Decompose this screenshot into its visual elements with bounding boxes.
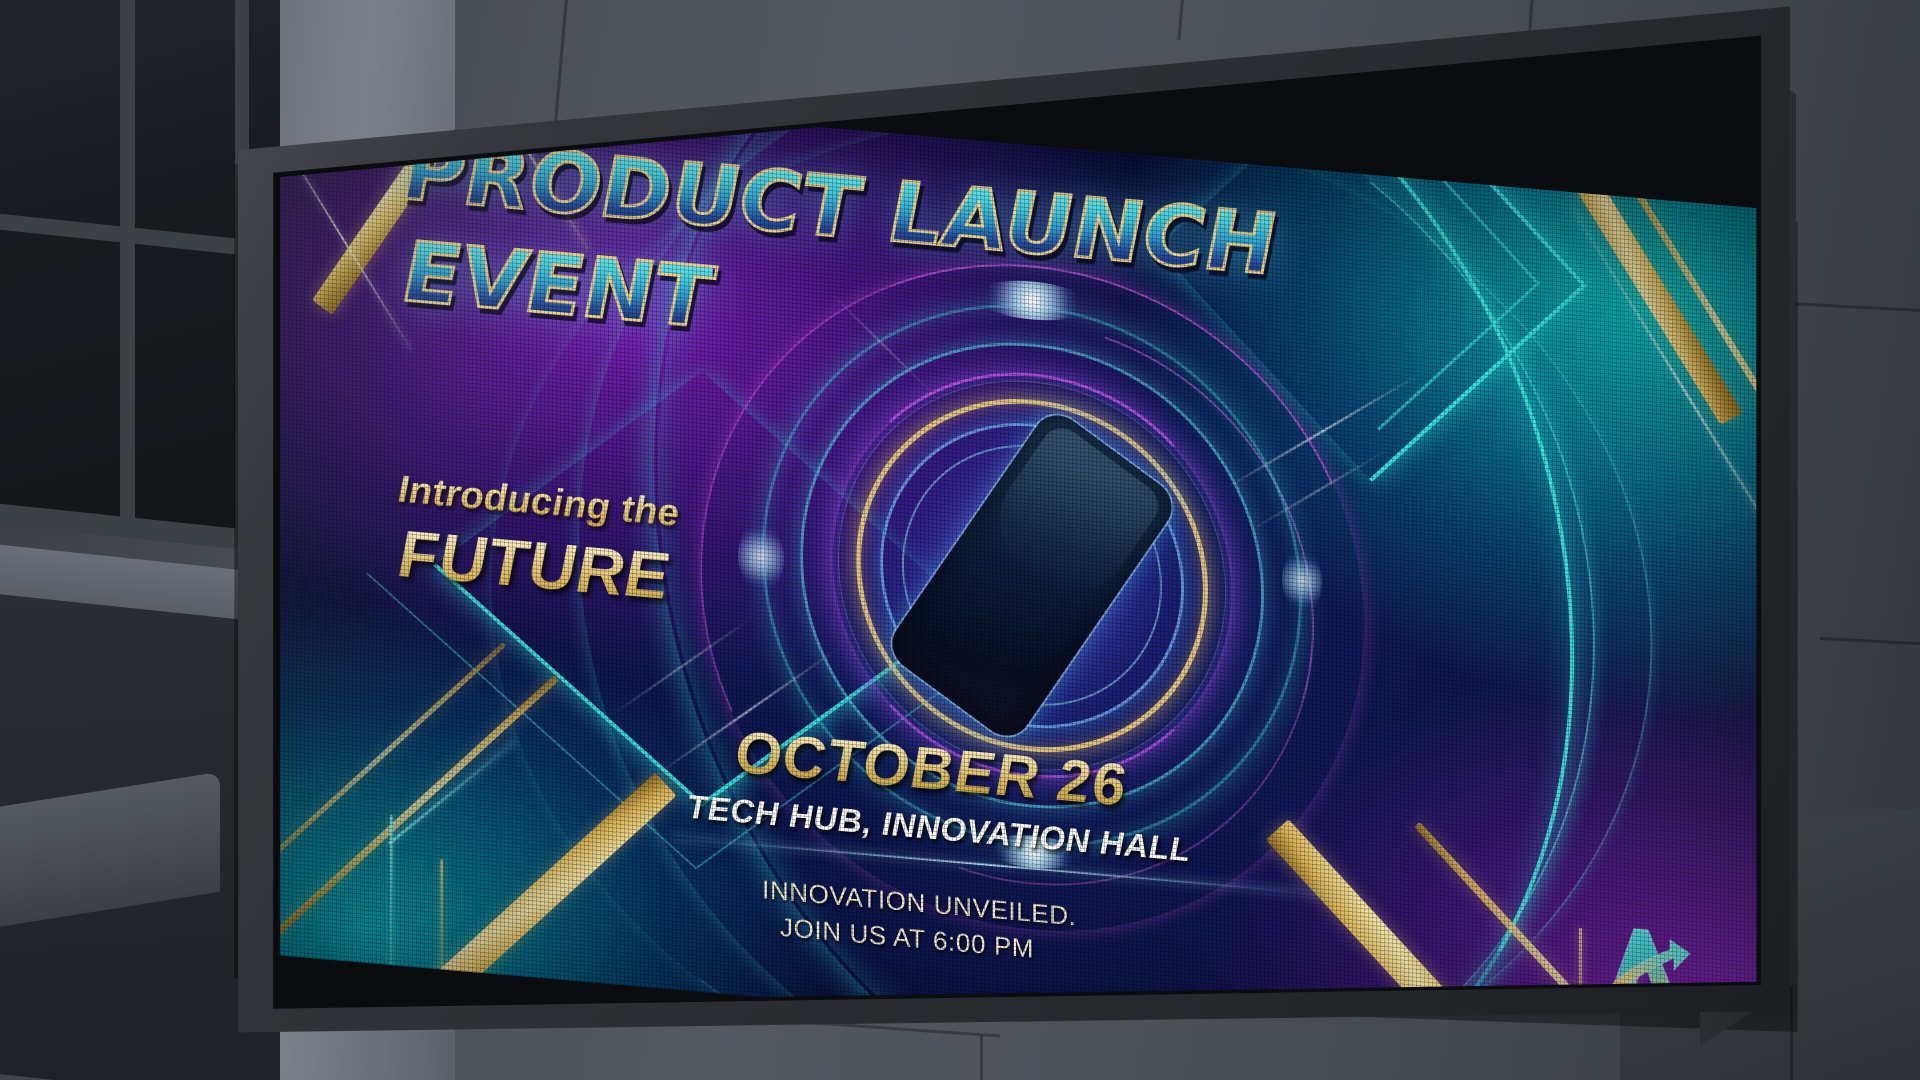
headline-line-2: EVENT [404, 231, 713, 339]
billboard-unit: PRODUCT LAUNCH EVENT Introducing the FUT… [0, 0, 1920, 1080]
billboard-scene: PRODUCT LAUNCH EVENT Introducing the FUT… [0, 0, 1920, 1080]
billboard-screen: PRODUCT LAUNCH EVENT Introducing the FUT… [206, 0, 1806, 1080]
light-streak [610, 616, 753, 716]
corner-decor-top-right [1322, 121, 1762, 581]
poster-artwork: PRODUCT LAUNCH EVENT Introducing the FUT… [280, 80, 1762, 1080]
corner-decor-bottom-left [280, 572, 720, 1054]
light-streak [1222, 372, 1422, 491]
